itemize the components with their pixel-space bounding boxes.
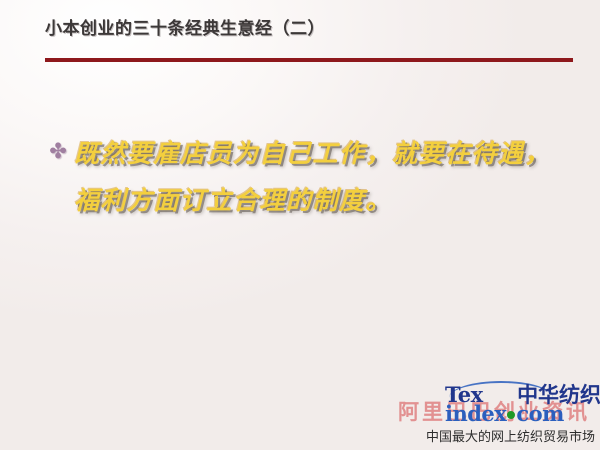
logo-bottom-row: indexcom: [445, 401, 564, 426]
bullet-item-text: 既然要雇店员为自己工作，就要在待遇，福利方面订立合理的制度。: [0, 130, 600, 224]
title-divider-rule: [45, 58, 573, 62]
site-tagline: 中国最大的网上纺织贸易市场: [426, 426, 595, 445]
watermark-logo-cluster: 阿里巴巴创业资讯 Tex 中华纺织网 indexcom 中国最大的网上纺织贸易市…: [390, 376, 600, 450]
bullet-list-item: ✤ 既然要雇店员为自己工作，就要在待遇，福利方面订立合理的制度。: [0, 130, 600, 224]
slide-title-block: 小本创业的三十条经典生意经（二）: [0, 14, 600, 54]
maple-leaf-bullet-icon: ✤: [46, 140, 70, 164]
page-title: 小本创业的三十条经典生意经（二）: [45, 14, 325, 39]
slide-body: ✤ 既然要雇店员为自己工作，就要在待遇，福利方面订立合理的制度。: [0, 130, 600, 224]
logo-com-wordmark: com: [516, 401, 564, 426]
logo-index-wordmark: index: [445, 401, 506, 426]
texindex-logo: Tex 中华纺织网 indexcom: [445, 377, 595, 425]
presentation-slide: 小本创业的三十条经典生意经（二） ✤ 既然要雇店员为自己工作，就要在待遇，福利方…: [0, 0, 600, 450]
logo-green-dot-icon: [507, 411, 515, 419]
